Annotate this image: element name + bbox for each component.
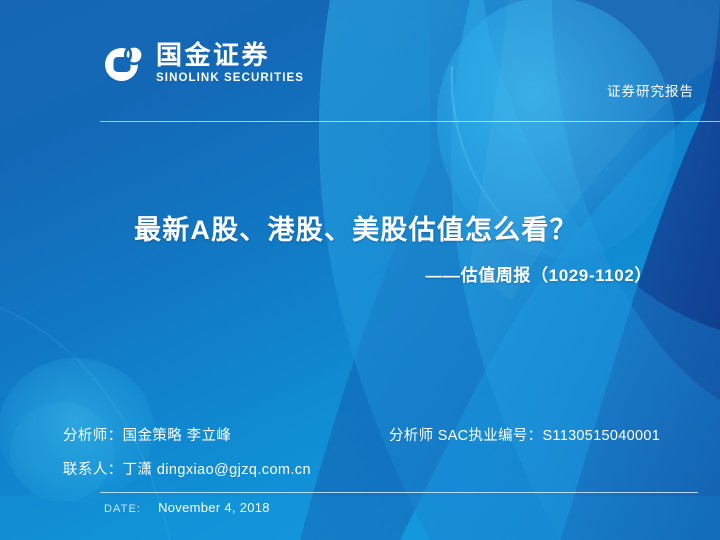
logo-name-cn: 国金证券 — [156, 42, 304, 69]
contact-line: 联系人：丁潇 dingxiao@gjzq.com.cn — [63, 458, 389, 479]
date-label: DATE: — [104, 503, 141, 515]
logo-name-en: SINOLINK SECURITIES — [156, 71, 304, 87]
credit-row: 联系人：丁潇 dingxiao@gjzq.com.cn — [63, 458, 683, 479]
report-cover-slide: 国金证券 SINOLINK SECURITIES 证券研究报告 最新A股、港股、… — [0, 0, 720, 540]
page-title: 最新A股、港股、美股估值怎么看？ — [134, 214, 652, 247]
report-type-tag: 证券研究报告 — [607, 80, 694, 100]
sac-license-line: 分析师 SAC执业编号：S1130515040001 — [389, 424, 660, 445]
brand-logo: 国金证券 SINOLINK SECURITIES — [101, 42, 304, 87]
page-subtitle: ——估值周报（1029-1102） — [134, 261, 652, 286]
title-block: 最新A股、港股、美股估值怎么看？ ——估值周报（1029-1102） — [134, 214, 652, 286]
date-block: DATE: November 4, 2018 — [104, 500, 270, 515]
header-divider — [100, 121, 720, 122]
date-value: November 4, 2018 — [158, 500, 270, 515]
sinolink-circle-mark-icon — [101, 42, 145, 86]
footer-divider — [100, 492, 698, 493]
credits-block: 分析师：国金策略 李立峰 分析师 SAC执业编号：S1130515040001 … — [63, 424, 683, 492]
credit-row: 分析师：国金策略 李立峰 分析师 SAC执业编号：S1130515040001 — [63, 424, 683, 445]
analyst-line: 分析师：国金策略 李立峰 — [63, 424, 389, 445]
